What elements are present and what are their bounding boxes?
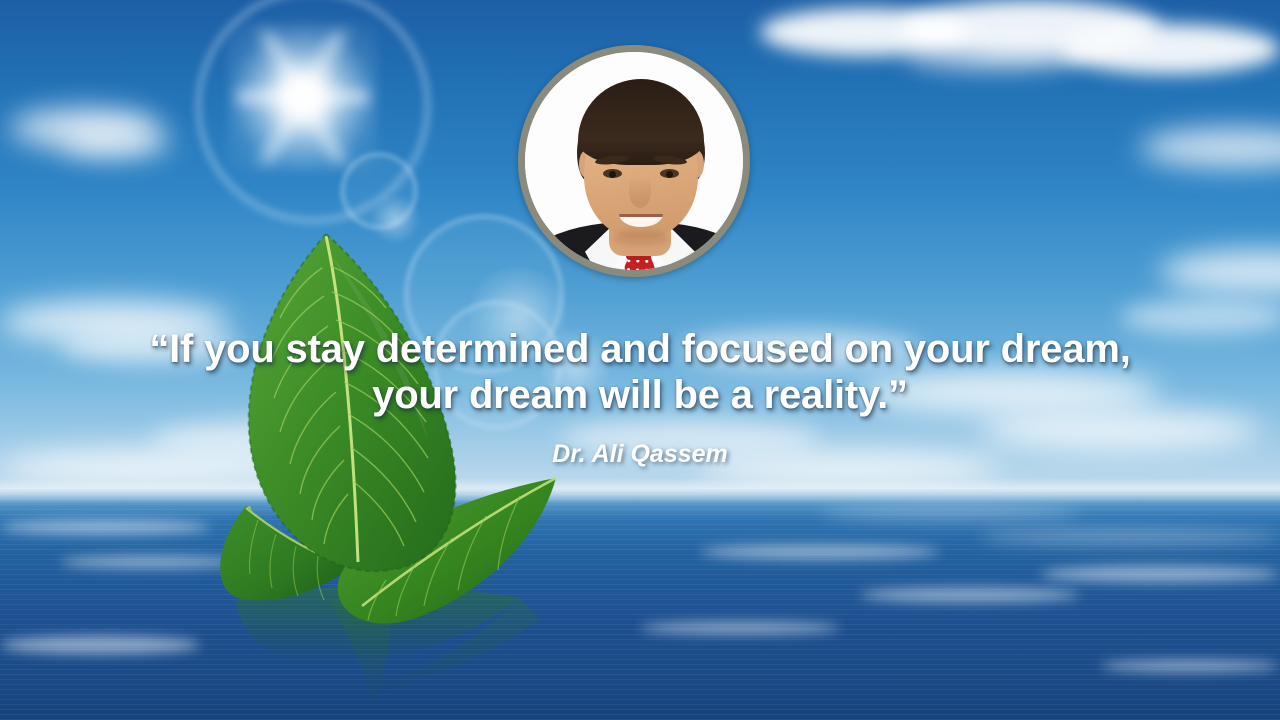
- quote-slide: “If you stay determined and focused on y…: [0, 0, 1280, 720]
- horizon-glow: [0, 478, 1280, 504]
- cloud-reflection: [820, 505, 1080, 521]
- quote-line-2: your dream will be a reality.”: [0, 372, 1280, 418]
- cloud-reflection: [980, 528, 1280, 546]
- avatar: [518, 45, 750, 277]
- quote-line-1: “If you stay determined and focused on y…: [0, 326, 1280, 372]
- quote-attribution: Dr. Ali Qassem: [0, 440, 1280, 469]
- sun-core: [228, 22, 378, 172]
- cloud-reflection: [1100, 660, 1280, 672]
- cloud-reflection: [1040, 566, 1280, 582]
- cloud: [1060, 24, 1280, 74]
- cloud-reflection: [60, 556, 240, 568]
- portrait-photo: [525, 52, 743, 270]
- cloud-reflection: [0, 636, 200, 654]
- cloud-reflection: [860, 588, 1080, 602]
- cloud: [60, 128, 170, 156]
- cloud: [905, 42, 1085, 72]
- cloud-reflection: [700, 545, 940, 559]
- pupil-left: [609, 171, 616, 178]
- cloud-reflection: [0, 520, 210, 534]
- nose: [629, 176, 651, 208]
- cloud-reflection: [640, 622, 840, 634]
- pupil-right: [666, 171, 673, 178]
- chin-shading: [613, 230, 669, 246]
- quote-text: “If you stay determined and focused on y…: [0, 326, 1280, 418]
